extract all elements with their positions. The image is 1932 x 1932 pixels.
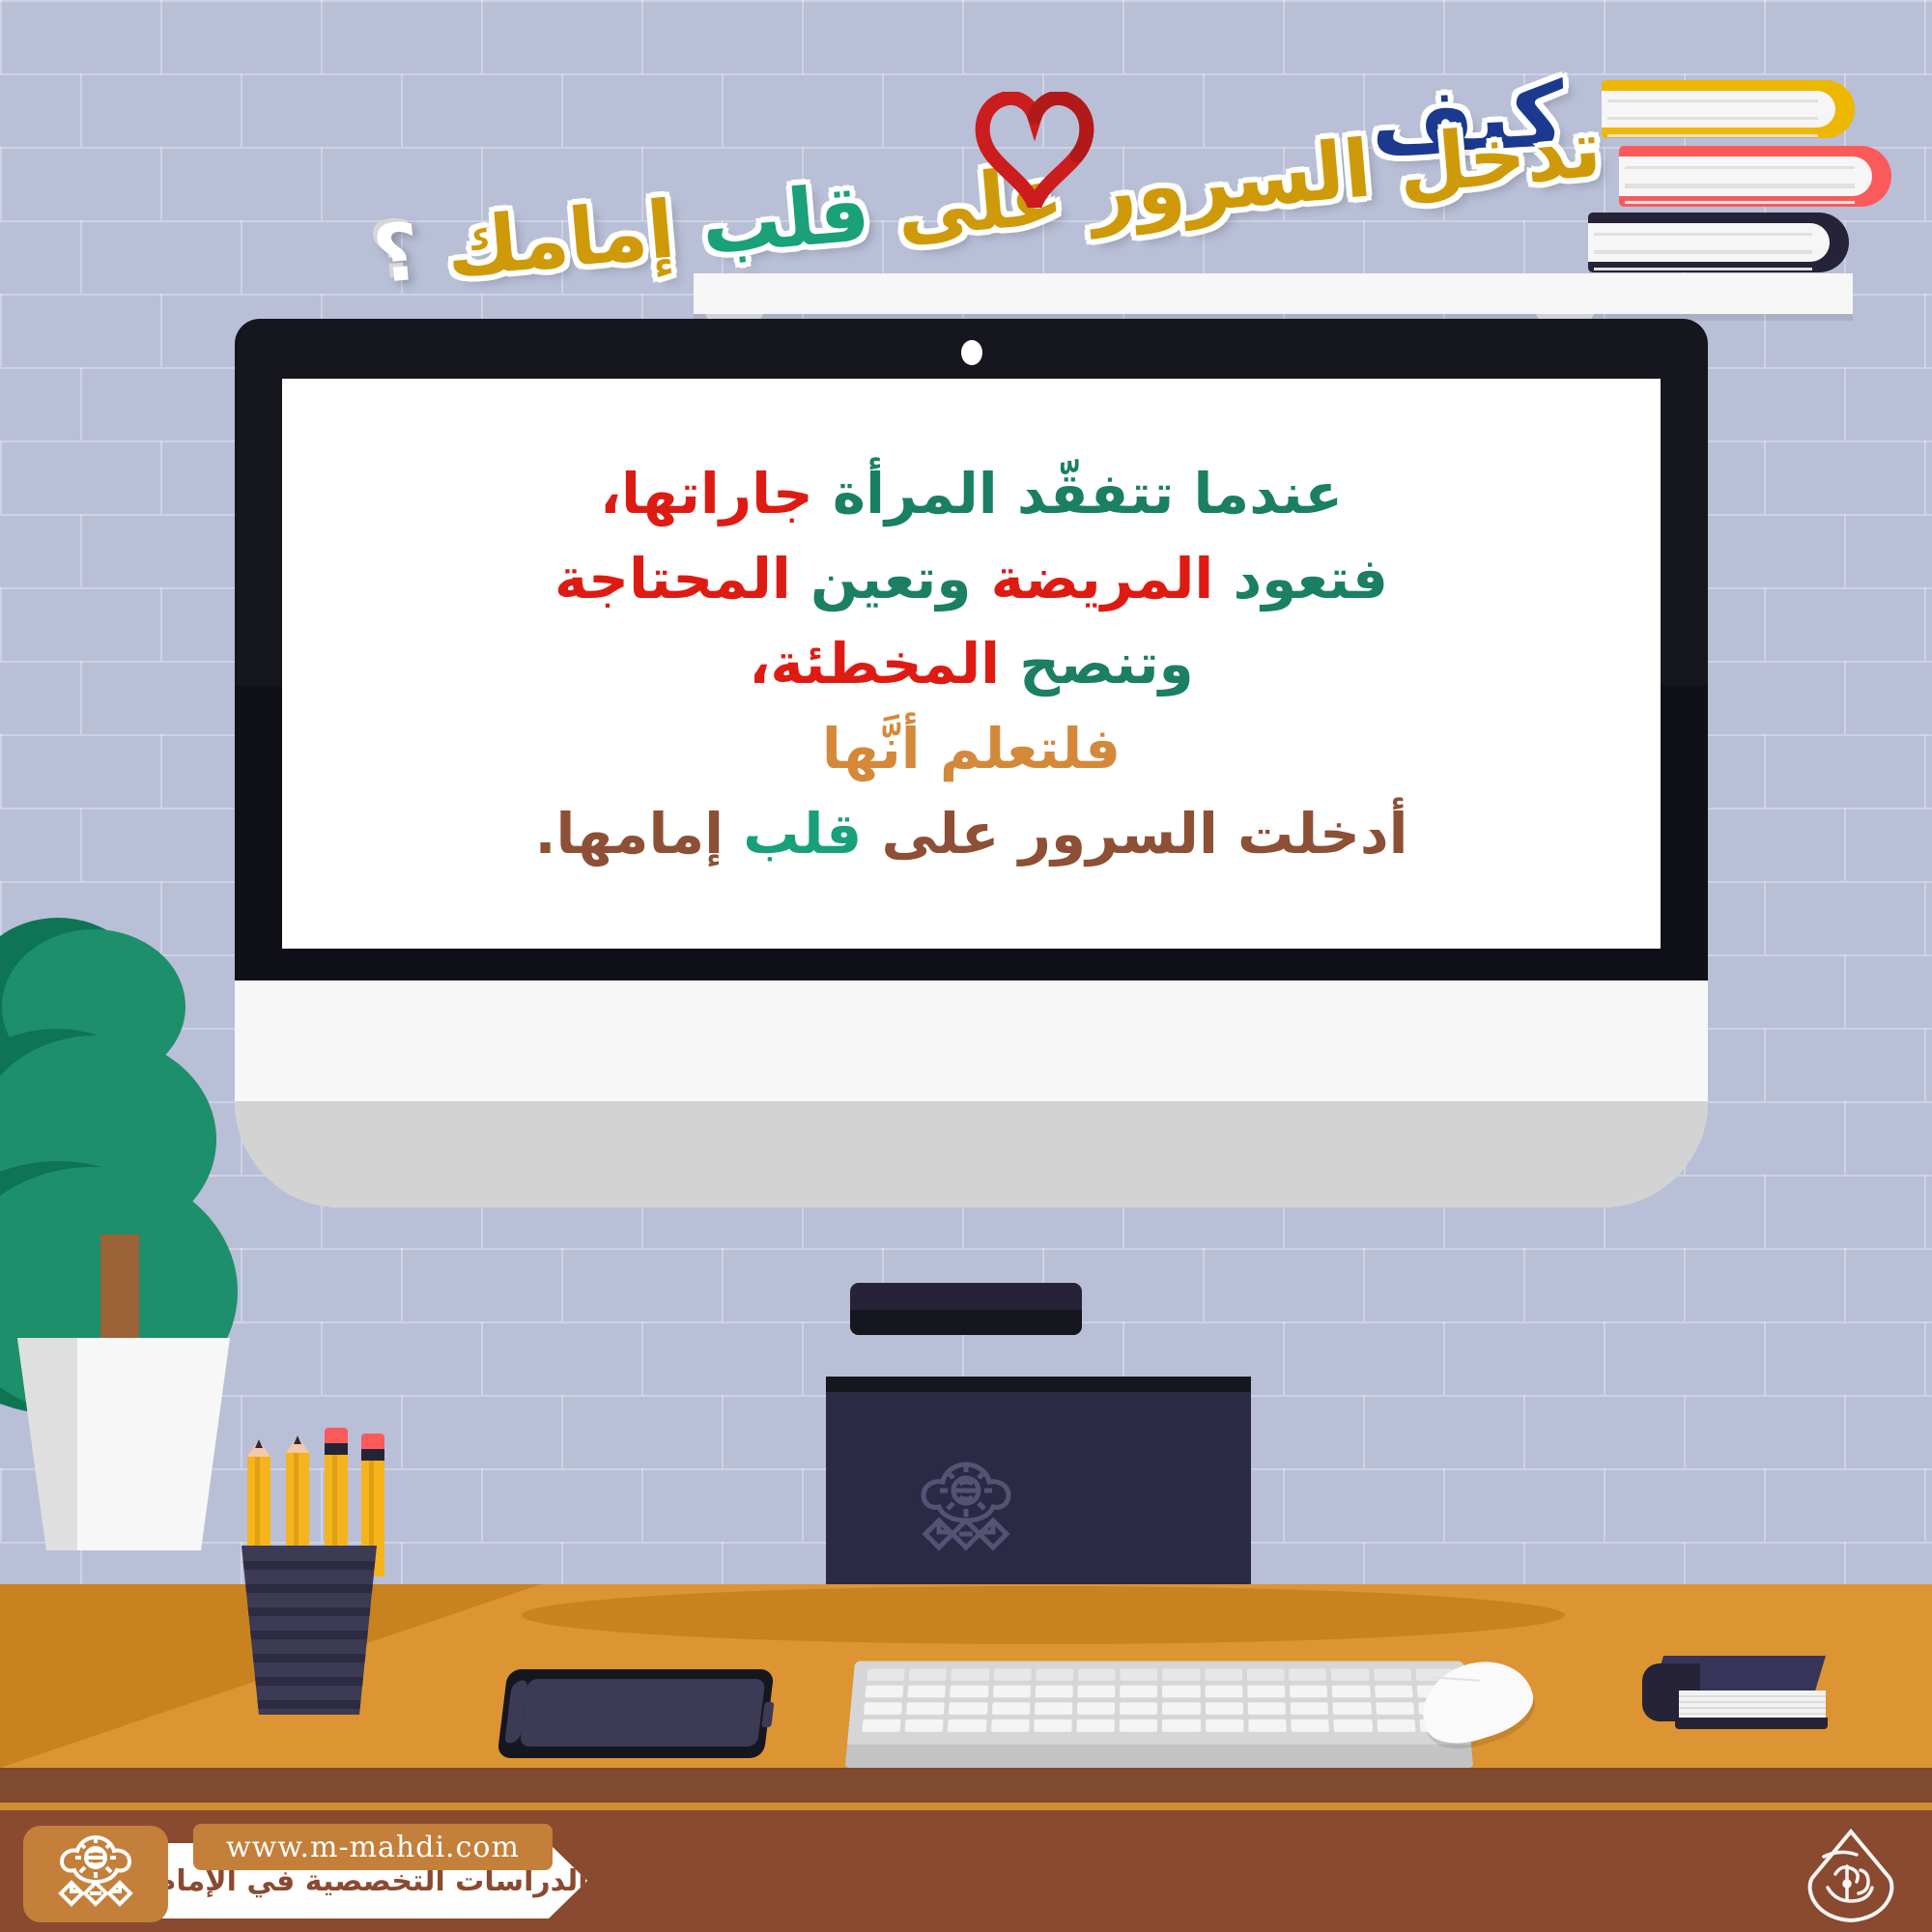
keyboard-row-2[interactable] — [865, 1686, 1455, 1698]
shelf-book-yellow — [1602, 80, 1855, 138]
shelf-book-navy-pages — [1588, 223, 1830, 262]
screen-text-line-5-segment-3: إمامها. — [534, 801, 724, 867]
pencil-3-ferrule — [325, 1443, 348, 1455]
screen-text-line-5: أدخلت السرور على قلب إمامها. — [534, 791, 1407, 876]
pencil-2-lead — [294, 1435, 301, 1444]
monitor-brand-pill — [850, 1283, 1082, 1335]
screen-text-line-2-segment-1: فتعود — [1213, 546, 1388, 611]
pencil-1-lead — [255, 1439, 263, 1448]
screen-text-line-4-segment-1: فلتعلم أنَّها — [822, 716, 1121, 781]
keyboard-row-3[interactable] — [864, 1702, 1457, 1715]
screen-text-block: عندما تتفقّد المرأة جاراتها،فتعود المريض… — [282, 379, 1661, 949]
graphics-tablet[interactable] — [497, 1669, 774, 1758]
screen-text-line-1: عندما تتفقّد المرأة جاراتها، — [600, 451, 1343, 536]
closed-book-back-cover — [1675, 1718, 1828, 1729]
screen-text-line-5-segment-1: أدخلت السرور على — [862, 801, 1407, 867]
website-url-pill[interactable]: www.m-mahdi.com — [193, 1824, 553, 1870]
screen-text-line-3: وتنصح المخطئة، — [749, 621, 1193, 706]
keyboard-keys[interactable] — [862, 1668, 1459, 1732]
screen-text-line-3-segment-2: المخطئة، — [749, 631, 1000, 696]
tree-pot — [17, 1338, 230, 1550]
screen-text-line-2-segment-4: المحتاجة — [554, 546, 791, 611]
pencil-4-ferrule — [361, 1449, 384, 1461]
graphics-tablet-surface[interactable] — [520, 1679, 766, 1747]
screen-text-line-2-segment-2: المريضة — [971, 546, 1213, 611]
closed-book — [1642, 1656, 1826, 1729]
shelf-book-navy — [1588, 213, 1849, 272]
screen-text-line-2-segment-3: وتعين — [791, 546, 972, 611]
screen-text-line-4: فلتعلم أنَّها — [822, 706, 1121, 791]
shelf-book-red — [1619, 146, 1891, 207]
wall-shelf — [694, 273, 1853, 314]
footer-badge — [23, 1826, 168, 1922]
keyboard-base — [845, 1745, 1474, 1768]
monitor-chin-lower — [235, 1101, 1708, 1207]
monitor-stand-top-strip — [826, 1377, 1251, 1392]
screen-text-line-3-segment-1: وتنصح — [1000, 631, 1194, 696]
keyboard-row-1[interactable] — [867, 1668, 1454, 1681]
poster-canvas: كيف تدخل السرور على قلب إمامك ؟ عندما تت… — [0, 0, 1932, 1932]
shelf-book-red-pages — [1619, 156, 1872, 196]
monitor-chin — [235, 980, 1708, 1207]
monitor-brand-pill-shadow — [850, 1310, 1082, 1335]
webcam-icon — [961, 340, 982, 365]
keyboard-row-4[interactable] — [862, 1719, 1458, 1732]
pencil-4-eraser — [361, 1434, 384, 1449]
tree-trunk — [100, 1235, 139, 1350]
screen-text-line-1-segment-2: جاراتها، — [600, 461, 813, 526]
shelf-book-yellow-pages — [1602, 91, 1835, 128]
screen-text-line-5-segment-2: قلب — [724, 801, 862, 867]
screen-text-line-2: فتعود المريضة وتعين المحتاجة — [554, 536, 1388, 621]
pencil-3-eraser — [325, 1428, 348, 1443]
website-url[interactable]: www.m-mahdi.com — [226, 1831, 520, 1864]
calligraphy-mark-icon — [1804, 1828, 1897, 1924]
closed-book-pages — [1679, 1690, 1826, 1719]
al-mahdi-center-emblem-icon — [906, 1459, 1026, 1565]
monitor-screen: عندما تتفقّد المرأة جاراتها،فتعود المريض… — [282, 379, 1661, 949]
globe-arch-emblem-icon — [47, 1833, 144, 1917]
screen-text-line-1-segment-1: عندما تتفقّد المرأة — [813, 461, 1343, 526]
monitor-desk-shadow — [522, 1586, 1565, 1644]
keyboard[interactable] — [845, 1662, 1474, 1768]
footer-accent-strip — [0, 1803, 1932, 1810]
